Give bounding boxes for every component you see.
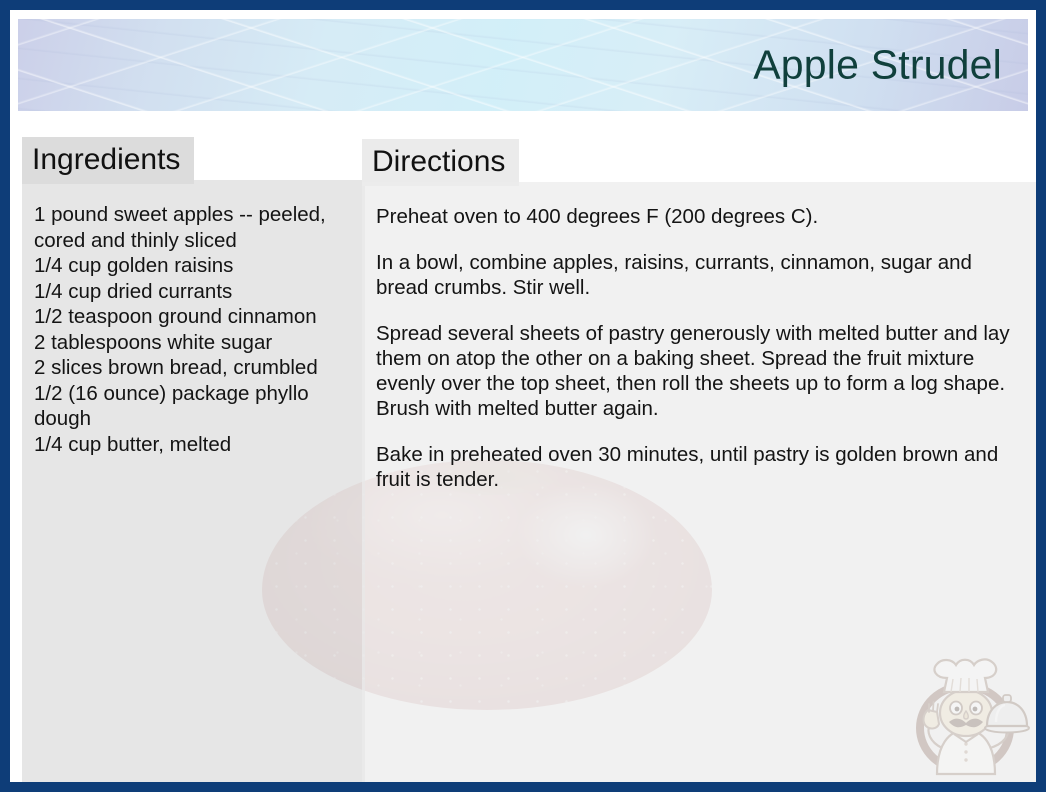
header-banner: Apple Strudel <box>18 19 1028 111</box>
section-header-directions: Directions <box>362 139 519 186</box>
page-title: Apple Strudel <box>753 45 1002 86</box>
list-item: 1/4 cup butter, melted <box>34 432 351 458</box>
directions-panel: Preheat oven to 400 degrees F (200 degre… <box>362 182 1036 782</box>
slide-page: Apple Strudel Ingredients 1 pound sweet … <box>10 10 1036 782</box>
direction-step: In a bowl, combine apples, raisins, curr… <box>376 250 1012 300</box>
ingredient-list: 1 pound sweet apples -- peeled, cored an… <box>34 202 351 457</box>
direction-step-list: Preheat oven to 400 degrees F (200 degre… <box>376 204 1012 492</box>
list-item: 2 slices brown bread, crumbled <box>34 355 351 381</box>
direction-step: Spread several sheets of pastry generous… <box>376 321 1012 421</box>
list-item: 1 pound sweet apples -- peeled, cored an… <box>34 202 351 253</box>
list-item: 2 tablespoons white sugar <box>34 330 351 356</box>
section-header-ingredients: Ingredients <box>22 137 194 184</box>
list-item: 1/2 teaspoon ground cinnamon <box>34 304 351 330</box>
list-item: 1/2 (16 ounce) package phyllo dough <box>34 381 351 432</box>
direction-step: Preheat oven to 400 degrees F (200 degre… <box>376 204 1012 229</box>
recipe-slide: Apple Strudel Ingredients 1 pound sweet … <box>0 0 1046 792</box>
list-item: 1/4 cup golden raisins <box>34 253 351 279</box>
list-item: 1/4 cup dried currants <box>34 279 351 305</box>
ingredients-panel: 1 pound sweet apples -- peeled, cored an… <box>22 180 365 782</box>
direction-step: Bake in preheated oven 30 minutes, until… <box>376 442 1012 492</box>
